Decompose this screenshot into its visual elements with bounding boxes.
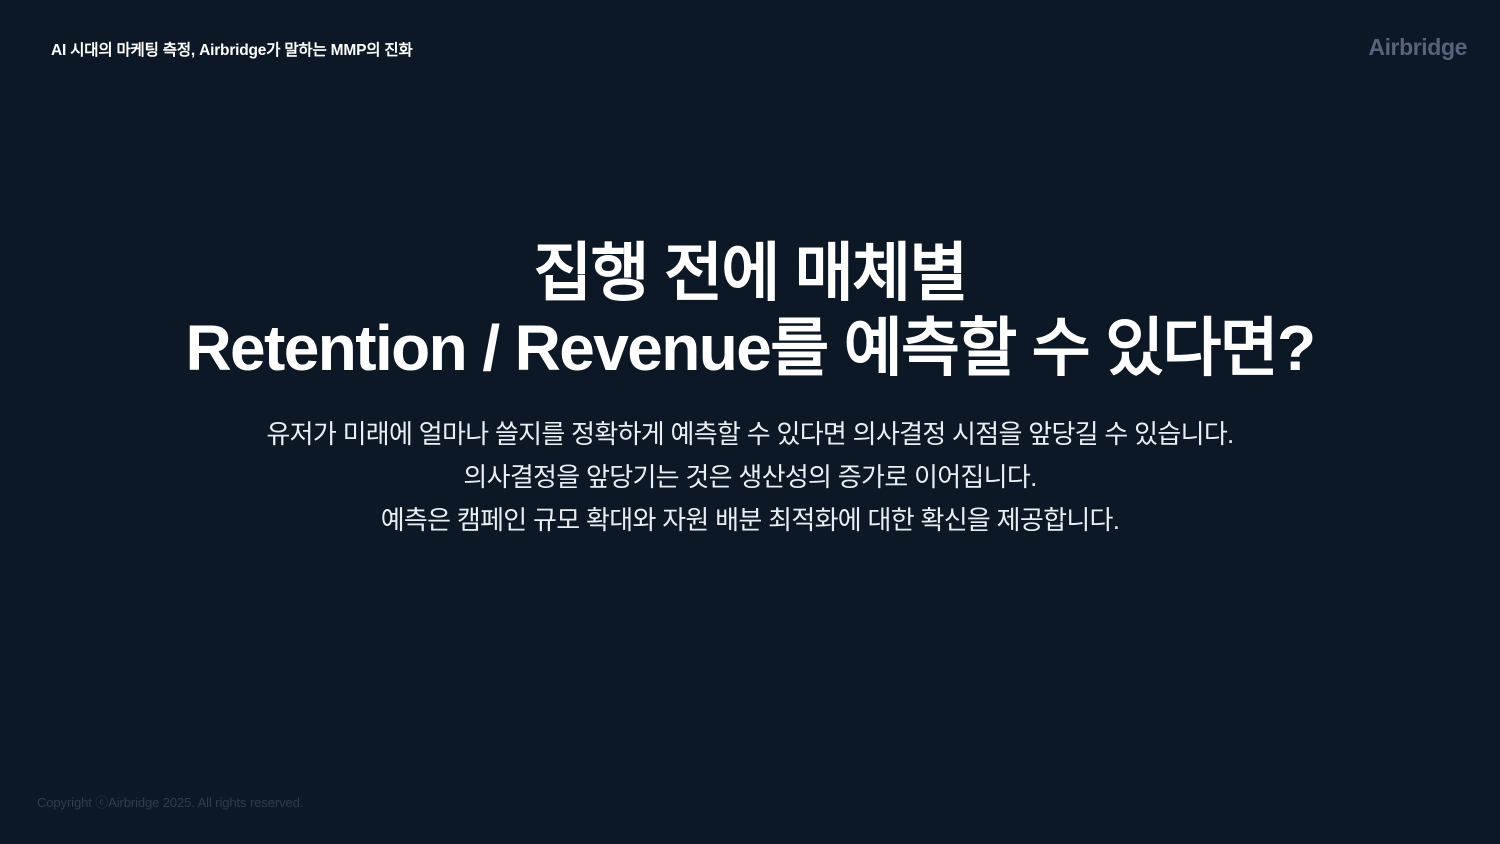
- slide-root: AI 시대의 마케팅 측정, Airbridge가 말하는 MMP의 진화 Ai…: [0, 0, 1500, 844]
- subcopy-line-1: 유저가 미래에 얼마나 쓸지를 정확하게 예측할 수 있다면 의사결정 시점을 …: [0, 413, 1500, 456]
- subcopy-block: 유저가 미래에 얼마나 쓸지를 정확하게 예측할 수 있다면 의사결정 시점을 …: [0, 413, 1500, 542]
- airbridge-logo: Airbridge: [1368, 33, 1467, 62]
- page-title: 집행 전에 매체별 Retention / Revenue를 예측할 수 있다면…: [0, 236, 1500, 386]
- slide-header: AI 시대의 마케팅 측정, Airbridge가 말하는 MMP의 진화 Ai…: [0, 0, 1500, 100]
- subcopy-line-2: 의사결정을 앞당기는 것은 생산성의 증가로 이어집니다.: [0, 456, 1500, 499]
- copyright-notice: Copyright ⓒAirbridge 2025. All rights re…: [37, 795, 303, 811]
- slide-content: 집행 전에 매체별 Retention / Revenue를 예측할 수 있다면…: [0, 236, 1500, 542]
- header-title: AI 시대의 마케팅 측정, Airbridge가 말하는 MMP의 진화: [51, 41, 413, 60]
- slide-footer: Copyright ⓒAirbridge 2025. All rights re…: [0, 774, 1500, 844]
- headline-line-2: Retention / Revenue를 예측할 수 있다면?: [0, 311, 1500, 386]
- headline-line-1: 집행 전에 매체별: [0, 236, 1500, 311]
- subcopy-line-3: 예측은 캠페인 규모 확대와 자원 배분 최적화에 대한 확신을 제공합니다.: [0, 499, 1500, 542]
